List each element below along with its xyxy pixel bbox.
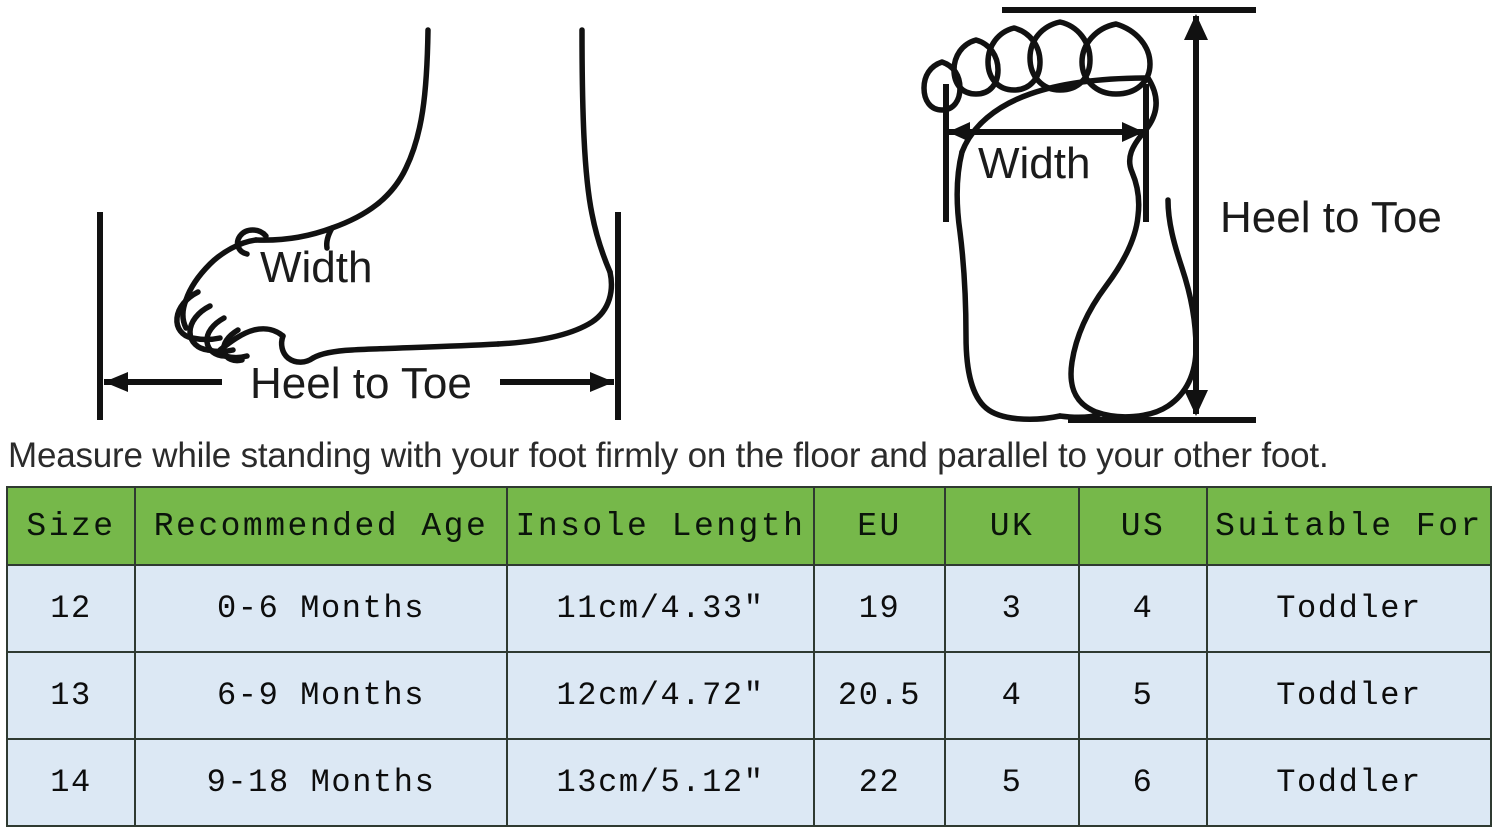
side-view-length-label: Heel to Toe xyxy=(250,359,472,408)
cell-size: 14 xyxy=(7,739,135,826)
side-view-width-label: Width xyxy=(260,243,372,292)
column-header-suitable: Suitable For xyxy=(1207,487,1491,565)
cell-insole: 11cm/4.33″ xyxy=(507,565,814,652)
foot-top-view-diagram: Width Heel to Toe xyxy=(900,0,1500,430)
foot-side-view-icon: Heel to Toe Width xyxy=(70,0,650,430)
cell-age: 0-6 Months xyxy=(135,565,507,652)
cell-us: 6 xyxy=(1079,739,1207,826)
cell-us: 5 xyxy=(1079,652,1207,739)
column-header-age: Recommended Age xyxy=(135,487,507,565)
cell-size: 12 xyxy=(7,565,135,652)
size-chart-table: Size Recommended Age Insole Length EU UK… xyxy=(6,486,1492,827)
cell-insole: 12cm/4.72″ xyxy=(507,652,814,739)
table-header-row: Size Recommended Age Insole Length EU UK… xyxy=(7,487,1491,565)
cell-uk: 5 xyxy=(945,739,1079,826)
cell-suitable: Toddler xyxy=(1207,739,1491,826)
cell-age: 9-18 Months xyxy=(135,739,507,826)
cell-uk: 3 xyxy=(945,565,1079,652)
measure-instruction-caption: Measure while standing with your foot fi… xyxy=(8,432,1492,480)
cell-size: 13 xyxy=(7,652,135,739)
cell-eu: 20.5 xyxy=(814,652,945,739)
column-header-eu: EU xyxy=(814,487,945,565)
table-row: 12 0-6 Months 11cm/4.33″ 19 3 4 Toddler xyxy=(7,565,1491,652)
table-row: 13 6-9 Months 12cm/4.72″ 20.5 4 5 Toddle… xyxy=(7,652,1491,739)
top-view-length-label: Heel to Toe xyxy=(1220,193,1442,242)
top-view-width-label: Width xyxy=(978,139,1090,188)
table-row: 14 9-18 Months 13cm/5.12″ 22 5 6 Toddler xyxy=(7,739,1491,826)
column-header-insole: Insole Length xyxy=(507,487,814,565)
cell-eu: 19 xyxy=(814,565,945,652)
column-header-uk: UK xyxy=(945,487,1079,565)
cell-insole: 13cm/5.12″ xyxy=(507,739,814,826)
cell-age: 6-9 Months xyxy=(135,652,507,739)
cell-suitable: Toddler xyxy=(1207,565,1491,652)
size-chart-table-container: Size Recommended Age Insole Length EU UK… xyxy=(6,486,1490,819)
cell-suitable: Toddler xyxy=(1207,652,1491,739)
table-header: Size Recommended Age Insole Length EU UK… xyxy=(7,487,1491,565)
measurement-diagrams: Heel to Toe Width xyxy=(0,0,1500,430)
table-body: 12 0-6 Months 11cm/4.33″ 19 3 4 Toddler … xyxy=(7,565,1491,826)
foot-side-view-diagram: Heel to Toe Width xyxy=(70,0,650,430)
size-chart-page: Heel to Toe Width xyxy=(0,0,1500,830)
cell-eu: 22 xyxy=(814,739,945,826)
column-header-size: Size xyxy=(7,487,135,565)
foot-top-view-icon: Width Heel to Toe xyxy=(900,0,1500,430)
cell-us: 4 xyxy=(1079,565,1207,652)
column-header-us: US xyxy=(1079,487,1207,565)
cell-uk: 4 xyxy=(945,652,1079,739)
